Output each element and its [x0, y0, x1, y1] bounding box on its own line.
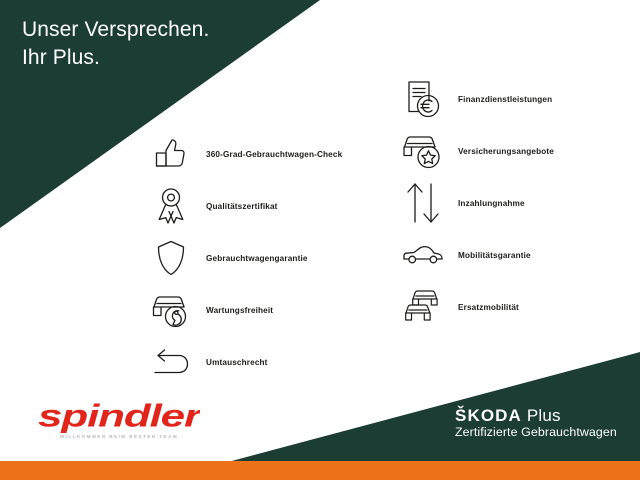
skoda-subtitle: Zertifizierte Gebrauchtwagen — [455, 425, 617, 440]
headline-line-1: Unser Versprechen. — [22, 16, 209, 44]
spindler-logo: spindler WILLKOMMEN BEIM BESTEN TEAM — [38, 400, 200, 439]
two-cars-icon — [400, 284, 446, 330]
feature-item: Wartungsfreiheit — [148, 284, 342, 336]
document-euro-icon — [400, 76, 446, 122]
feature-item: 360-Grad-Gebrauchtwagen-Check — [148, 128, 342, 180]
skoda-plus-word: Plus — [522, 406, 561, 425]
thumbs-up-icon — [148, 131, 194, 177]
feature-label: Umtauschrecht — [206, 358, 268, 367]
car-wrench-icon — [148, 287, 194, 333]
car-star-icon — [400, 128, 446, 174]
spindler-tagline: WILLKOMMEN BEIM BESTEN TEAM — [38, 434, 200, 439]
feature-item: Gebrauchtwagengarantie — [148, 232, 342, 284]
feature-label: Wartungsfreiheit — [206, 306, 273, 315]
feature-label: Qualitätszertifikat — [206, 202, 278, 211]
car-side-icon — [400, 232, 446, 278]
feature-label: Versicherungsangebote — [458, 147, 554, 156]
feature-item: Mobilitätsgarantie — [400, 229, 554, 281]
feature-item: Ersatzmobilität — [400, 281, 554, 333]
feature-label: Ersatzmobilität — [458, 303, 519, 312]
headline-line-2: Ihr Plus. — [22, 44, 209, 72]
shield-icon — [148, 235, 194, 281]
skoda-brand-name: ŠKODA — [455, 406, 522, 425]
feature-label: 360-Grad-Gebrauchtwagen-Check — [206, 150, 342, 159]
page-title: Unser Versprechen. Ihr Plus. — [22, 16, 209, 72]
arrows-up-down-icon — [400, 180, 446, 226]
skoda-brand-line: ŠKODA Plus — [455, 406, 617, 425]
orange-footer-bar — [0, 461, 640, 480]
feature-label: Gebrauchtwagengarantie — [206, 254, 308, 263]
feature-list-right: Finanzdienstleistungen Versicherungsange… — [400, 73, 554, 333]
feature-item: Qualitätszertifikat — [148, 180, 342, 232]
feature-label: Inzahlungnahme — [458, 199, 525, 208]
feature-label: Mobilitätsgarantie — [458, 251, 531, 260]
feature-item: Versicherungsangebote — [400, 125, 554, 177]
feature-item: Inzahlungnahme — [400, 177, 554, 229]
skoda-plus-lockup: ŠKODA Plus Zertifizierte Gebrauchtwagen — [455, 406, 617, 440]
feature-label: Finanzdienstleistungen — [458, 95, 552, 104]
spindler-wordmark-text: spindler — [38, 400, 200, 433]
feature-list-left: 360-Grad-Gebrauchtwagen-Check Qualitätsz… — [148, 128, 342, 388]
feature-item: Finanzdienstleistungen — [400, 73, 554, 125]
spindler-wordmark: spindler — [38, 400, 200, 433]
award-ribbon-icon — [148, 183, 194, 229]
promo-banner: Unser Versprechen. Ihr Plus. 360-Grad-Ge… — [0, 0, 640, 480]
return-arrow-icon — [148, 339, 194, 385]
feature-item: Umtauschrecht — [148, 336, 342, 388]
